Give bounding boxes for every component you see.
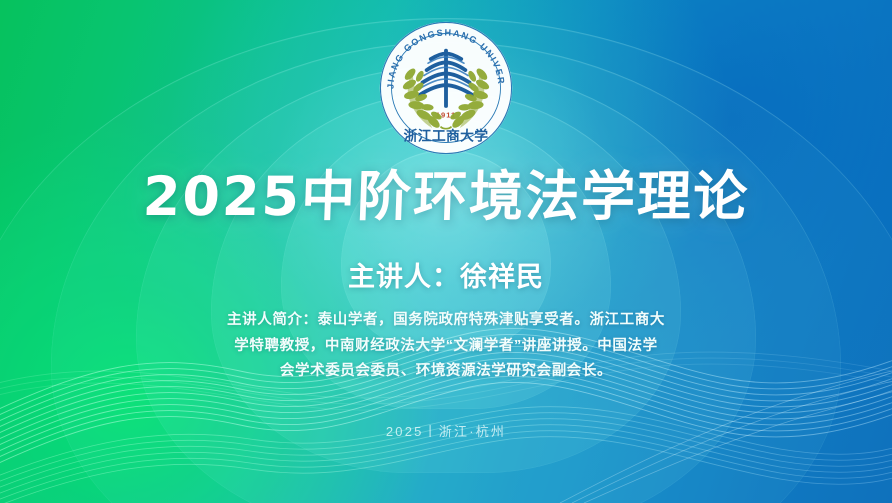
university-crest-logo: ZHEJIANG GONGSHANG UNIVERSITY 1911 [377, 19, 515, 157]
bio-line-2: 学特聘教授，中南财经政法大学“文澜学者”讲座讲授。中国法学 [0, 334, 892, 360]
crest-name-cn: 浙江工商大学 [404, 127, 489, 144]
page-title: 2025中阶环境法学理论 [0, 168, 892, 226]
speaker-bio: 主讲人简介：泰山学者，国务院政府特殊津贴享受者。浙江工商大 学特聘教授，中南财经… [0, 308, 892, 385]
speaker-line: 主讲人：徐祥民 [0, 260, 892, 294]
bio-line-3: 会学术委员会委员、环境资源法学研究会副会长。 [0, 359, 892, 385]
bio-line-1: 主讲人简介：泰山学者，国务院政府特殊津贴享受者。浙江工商大 [0, 308, 892, 334]
lecture-poster: ZHEJIANG GONGSHANG UNIVERSITY 1911 [0, 0, 892, 503]
footer-location-year: 2025丨浙江·杭州 [0, 423, 892, 441]
